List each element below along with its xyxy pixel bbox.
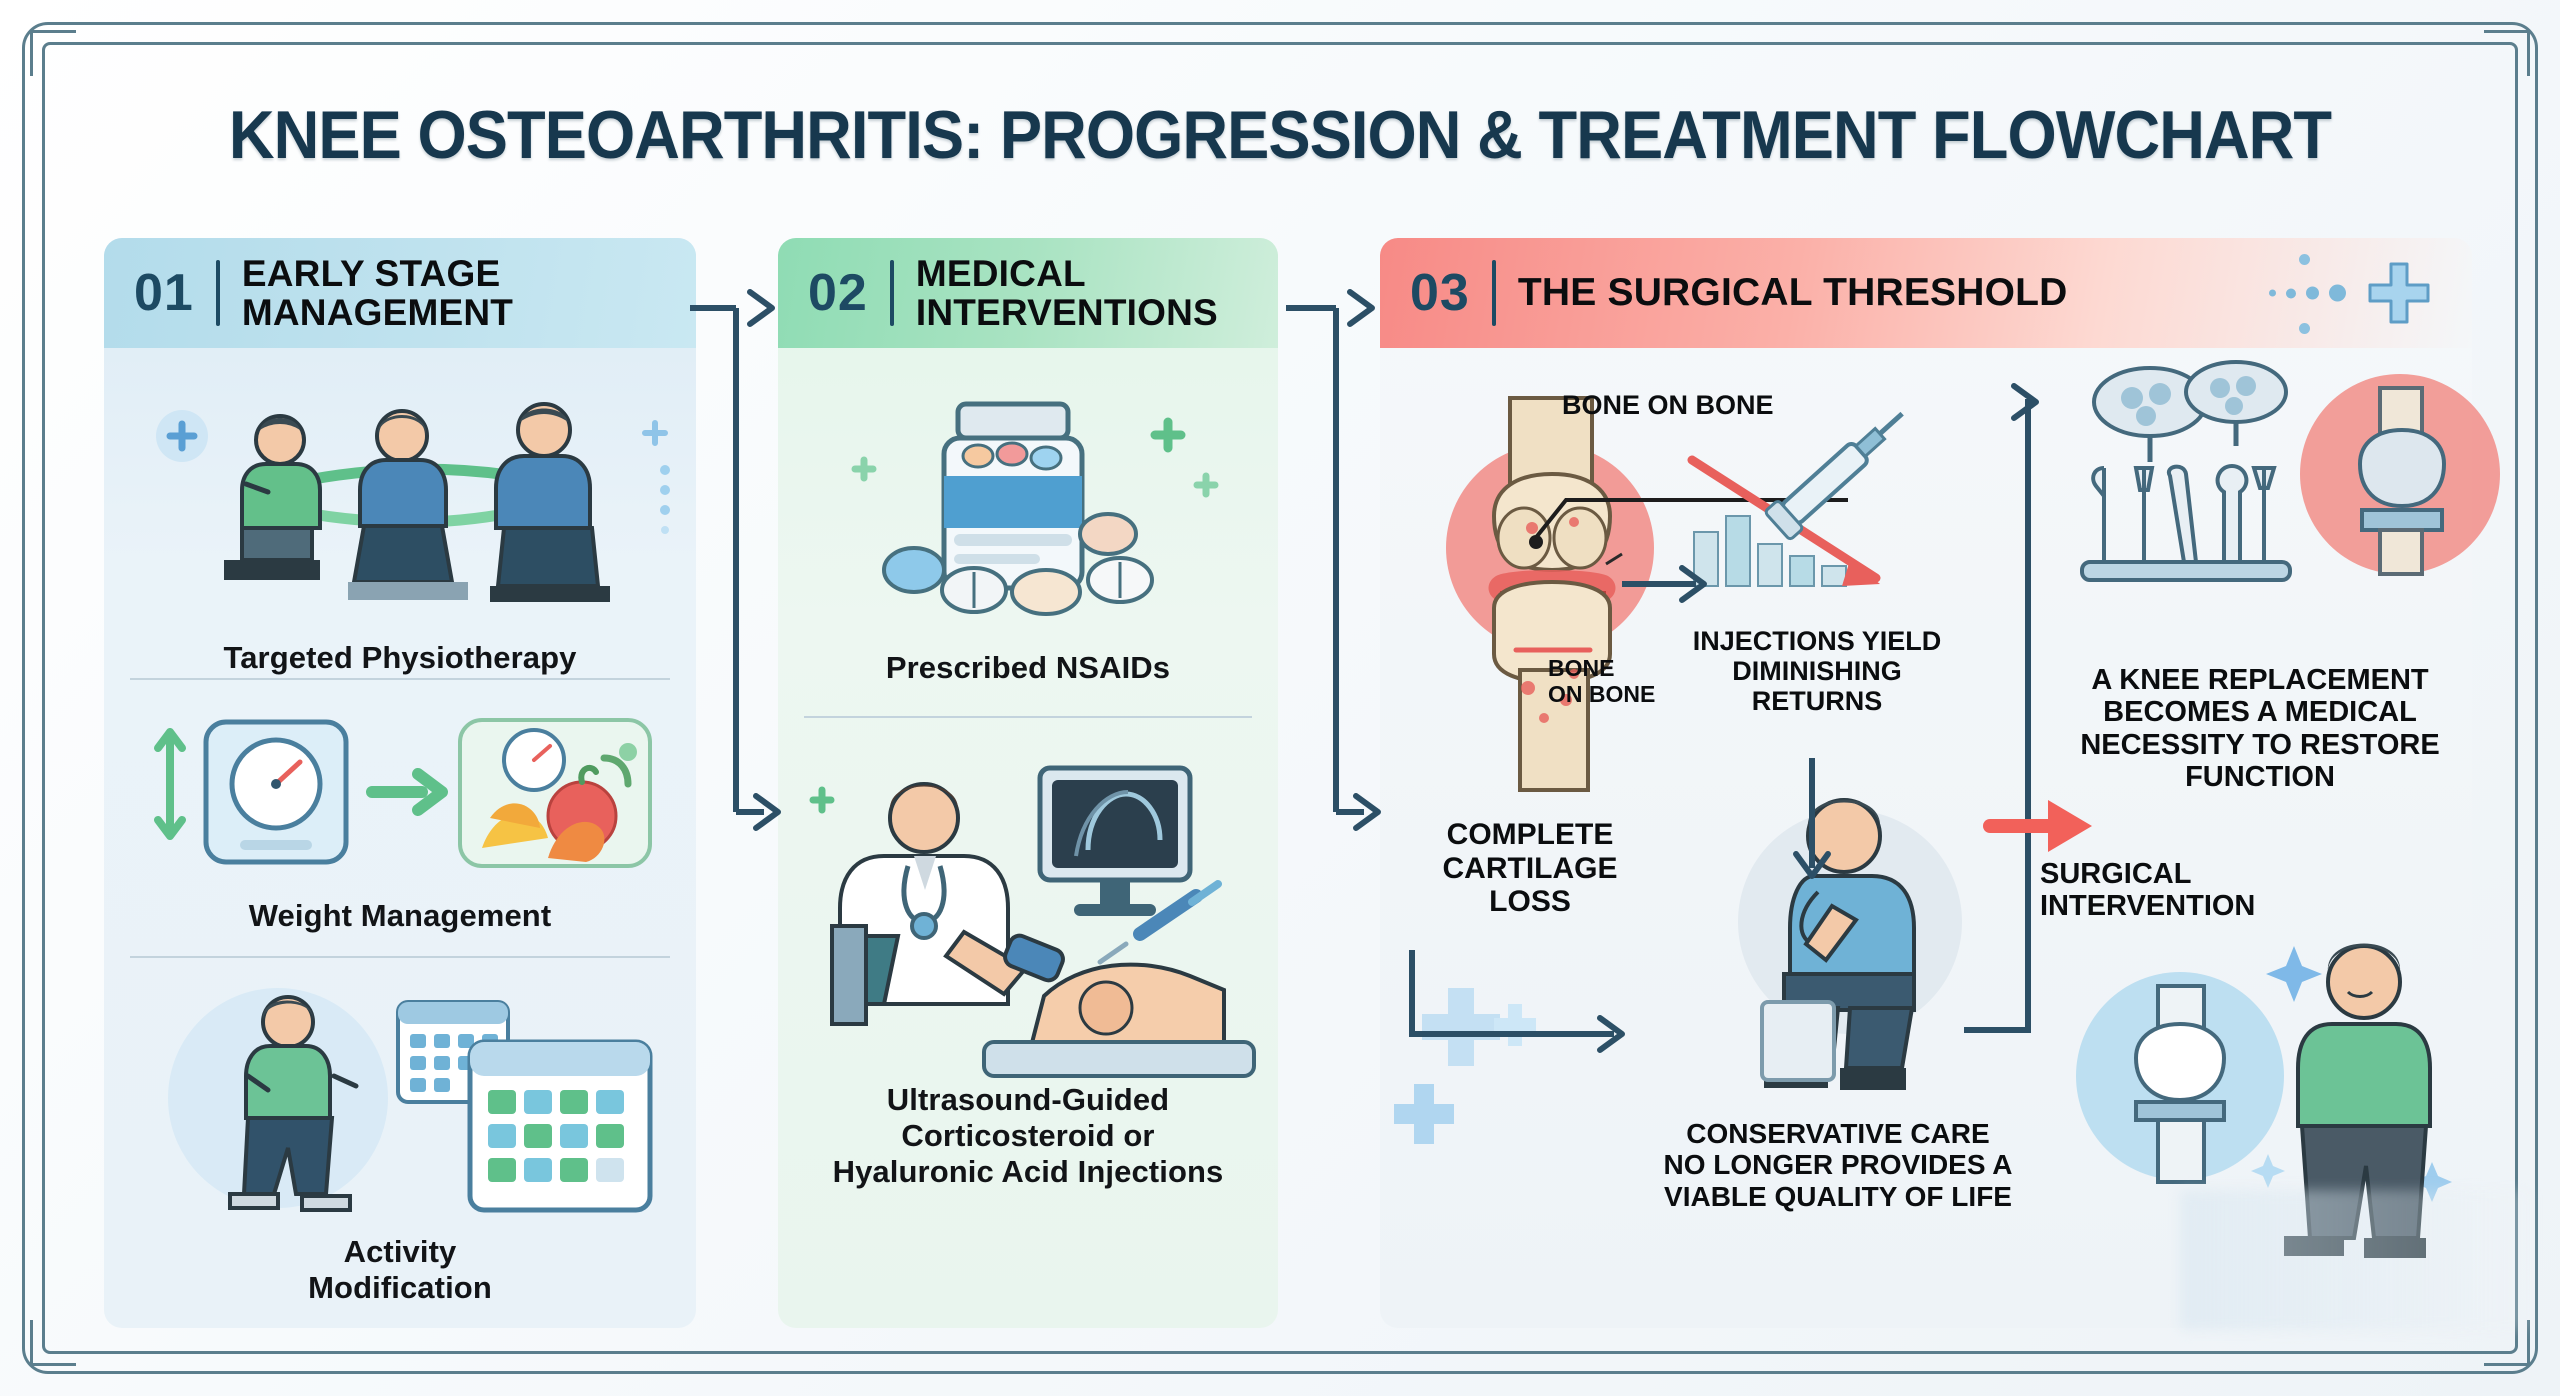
stage-1-column: 01 EARLY STAGE MANAGEMENT	[104, 238, 696, 1328]
corner-bracket-top-left	[30, 30, 76, 76]
stage-2-item-2-label: Ultrasound-Guided Corticosteroid or Hyal…	[778, 1082, 1278, 1190]
bone-on-bone-callout-bottom: BONE ON BONE	[1548, 656, 1655, 708]
degenerated-knee-joint-icon[interactable]	[1398, 388, 1698, 808]
stage-1-item-2-label: Weight Management	[104, 898, 696, 934]
connector-stage2-to-stage3	[1278, 280, 1388, 840]
stage-2-item-1-label: Prescribed NSAIDs	[778, 650, 1278, 686]
corner-bracket-top-right	[2484, 30, 2530, 76]
stage-1-number: 01	[134, 263, 194, 323]
stage-2-divider-1	[804, 716, 1252, 718]
page-title: KNEE OSTEOARTHRITIS: PROGRESSION & TREAT…	[90, 96, 2471, 174]
decorative-dot-bottom	[2299, 323, 2310, 334]
knee-replacement-necessity-label: A KNEE REPLACEMENT BECOMES A MEDICAL NEC…	[2040, 664, 2480, 794]
header-divider-rule	[216, 260, 220, 326]
pill-bottle-icon	[808, 384, 1248, 634]
physiotherapy-resistance-band-icon	[120, 378, 680, 628]
stage-3-number: 03	[1410, 263, 1470, 323]
walking-person-calendar-icon	[130, 980, 670, 1230]
header-divider-rule	[890, 260, 894, 326]
stage-1-item-1[interactable]: Targeted Physiotherapy	[104, 378, 696, 676]
stage-2-column: 02 MEDICAL INTERVENTIONS	[778, 238, 1278, 1328]
decorative-dot-top	[2299, 254, 2310, 265]
infographic-page: KNEE OSTEOARTHRITIS: PROGRESSION & TREAT…	[0, 0, 2560, 1396]
decorative-dots	[2269, 285, 2346, 302]
stage-2-item-1[interactable]: Prescribed NSAIDs	[778, 384, 1278, 686]
operating-room-surgical-tools-icon[interactable]	[2068, 356, 2468, 636]
stage-1-item-1-label: Targeted Physiotherapy	[104, 640, 696, 676]
seated-distressed-patient-icon[interactable]	[1698, 776, 1978, 1106]
stage-3-header[interactable]: 03 THE SURGICAL THRESHOLD	[1380, 238, 2472, 348]
stage-3-title: THE SURGICAL THRESHOLD	[1518, 272, 2068, 313]
corner-bracket-bottom-left	[30, 1320, 76, 1366]
stage-1-header[interactable]: 01 EARLY STAGE MANAGEMENT	[104, 238, 696, 348]
conservative-care-label: CONSERVATIVE CARE NO LONGER PROVIDES A V…	[1588, 1118, 2088, 1212]
medical-cross-icon	[2366, 260, 2432, 326]
injections-diminishing-returns-label: INJECTIONS YIELD DIMINISHING RETURNS	[1662, 626, 1972, 717]
complete-cartilage-loss-label: COMPLETE CARTILAGE LOSS	[1380, 818, 1680, 919]
background-artifact	[2180, 1190, 2530, 1330]
stage-1-divider-2	[130, 956, 670, 958]
bone-on-bone-callout-top: BONE ON BONE	[1562, 390, 1774, 420]
stage-1-item-2[interactable]: Weight Management	[104, 698, 696, 934]
stage-2-item-2[interactable]: Ultrasound-Guided Corticosteroid or Hyal…	[778, 746, 1278, 1190]
stage-1-title: EARLY STAGE MANAGEMENT	[242, 254, 513, 332]
connector-stage1-to-stage2	[690, 280, 790, 840]
declining-bar-chart-syringe-icon[interactable]	[1680, 420, 1970, 610]
stage-1-divider-1	[130, 678, 670, 680]
surgical-intervention-label: SURGICAL INTERVENTION	[2040, 858, 2370, 923]
ultrasound-guided-injection-icon	[788, 746, 1268, 1076]
stage-1-item-3-label: Activity Modification	[104, 1234, 696, 1306]
scale-and-healthy-food-icon	[130, 698, 670, 888]
header-divider-rule	[1492, 260, 1496, 326]
stage-2-number: 02	[808, 263, 868, 323]
stage-2-title: MEDICAL INTERVENTIONS	[916, 254, 1218, 332]
stage-1-item-3[interactable]: Activity Modification	[104, 980, 696, 1306]
stage-3-column: 03 THE SURGICAL THRESHOLD	[1380, 238, 2472, 1328]
stage-2-header[interactable]: 02 MEDICAL INTERVENTIONS	[778, 238, 1278, 348]
